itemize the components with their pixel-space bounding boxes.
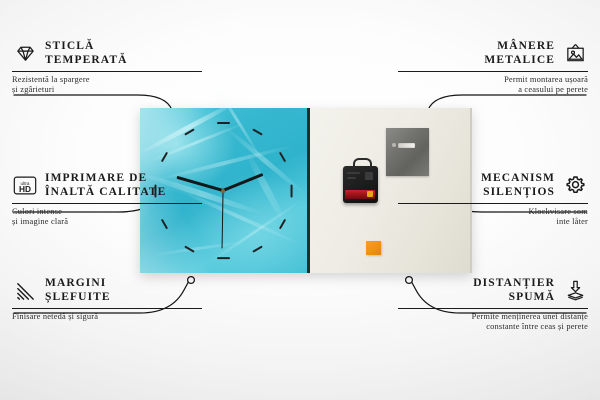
feather-streak	[206, 198, 305, 266]
callout-header: MÂNERE METALICE	[398, 40, 588, 67]
mechanism-detail	[365, 172, 373, 180]
clock-tick	[279, 151, 286, 162]
callout-subtitle: Permit montarea ușoară a ceasului pe per…	[398, 75, 588, 95]
callout-title: MECANISM SILENȚIOS	[481, 172, 555, 199]
ultra-hd-large-text: HD	[19, 184, 31, 194]
clock-tick	[217, 257, 230, 259]
foam-spacer-pad	[366, 241, 381, 255]
clock-center-pivot	[221, 189, 225, 193]
callout-divider	[398, 203, 588, 204]
hanger-plate	[386, 128, 429, 176]
callout-title: DISTANȚIER SPUMĂ	[473, 277, 555, 304]
callout-high-quality-print: ultra HD IMPRIMARE DE ÎNALTĂ CALITATE Cu…	[12, 172, 202, 227]
battery-plus-terminal	[367, 191, 373, 197]
clock-mechanism	[343, 166, 378, 203]
hanger-slot-screw	[392, 143, 396, 147]
callout-title: MÂNERE METALICE	[484, 40, 555, 67]
clock-tick	[290, 184, 292, 197]
callout-subtitle: Rezistentă la spargere și zgârieturi	[12, 75, 202, 95]
callout-header: MECANISM SILENȚIOS	[398, 172, 588, 199]
callout-metal-handles: MÂNERE METALICE Permit montarea ușoară a…	[398, 40, 588, 95]
mechanism-detail	[347, 172, 360, 174]
callout-divider	[12, 203, 202, 204]
clock-tick	[252, 128, 263, 135]
clock-tick	[279, 219, 286, 230]
callout-title: MARGINI ȘLEFUITE	[45, 277, 111, 304]
feather-streak	[243, 149, 288, 226]
hanger-slot	[398, 143, 415, 148]
callout-subtitle: Finisare netedă și sigură	[12, 312, 202, 322]
diamond-icon	[12, 41, 38, 67]
callout-header: ultra HD IMPRIMARE DE ÎNALTĂ CALITATE	[12, 172, 202, 199]
mechanism-hanging-loop	[353, 158, 372, 169]
callout-silent-mechanism: MECANISM SILENȚIOS Klockvisare som inte …	[398, 172, 588, 227]
callout-subtitle: Culori intense și imagine clară	[12, 207, 202, 227]
callout-header: STICLĂ TEMPERATĂ	[12, 40, 202, 67]
feather-streak	[150, 240, 246, 256]
callout-header: DISTANȚIER SPUMĂ	[398, 277, 588, 304]
ultra-hd-badge-icon: ultra HD	[12, 173, 38, 199]
clock-tick	[252, 245, 263, 252]
clock-battery	[345, 190, 375, 199]
infographic-canvas: STICLĂ TEMPERATĂ Rezistentă la spargere …	[0, 0, 600, 400]
callout-polished-edges: MARGINI ȘLEFUITE Finisare netedă și sigu…	[12, 277, 202, 322]
diagonal-lines-icon	[12, 278, 38, 304]
gear-icon	[562, 173, 588, 199]
callout-subtitle: Klockvisare som inte låter	[398, 207, 588, 227]
feather-streak	[211, 79, 263, 160]
callout-divider	[12, 308, 202, 309]
callout-foam-spacer: DISTANȚIER SPUMĂ Permite menținerea unei…	[398, 277, 588, 332]
callout-divider	[12, 71, 202, 72]
callout-subtitle: Permite menținerea unei distanțe constan…	[398, 312, 588, 332]
callout-header: MARGINI ȘLEFUITE	[12, 277, 202, 304]
callout-divider	[398, 308, 588, 309]
callout-tempered-glass: STICLĂ TEMPERATĂ Rezistentă la spargere …	[12, 40, 202, 95]
callout-title: IMPRIMARE DE ÎNALTĂ CALITATE	[45, 172, 166, 199]
clock-hour-hand	[223, 173, 264, 192]
clock-tick	[161, 151, 168, 162]
clock-tick	[184, 128, 195, 135]
mechanism-detail	[347, 177, 356, 179]
clock-second-hand	[222, 190, 224, 248]
arrow-onto-stack-icon	[562, 278, 588, 304]
callout-title: STICLĂ TEMPERATĂ	[45, 40, 128, 67]
feather-streak	[136, 97, 242, 156]
callout-divider	[398, 71, 588, 72]
clock-tick	[217, 122, 230, 124]
hanging-picture-frame-icon	[562, 41, 588, 67]
clock-tick	[184, 245, 195, 252]
